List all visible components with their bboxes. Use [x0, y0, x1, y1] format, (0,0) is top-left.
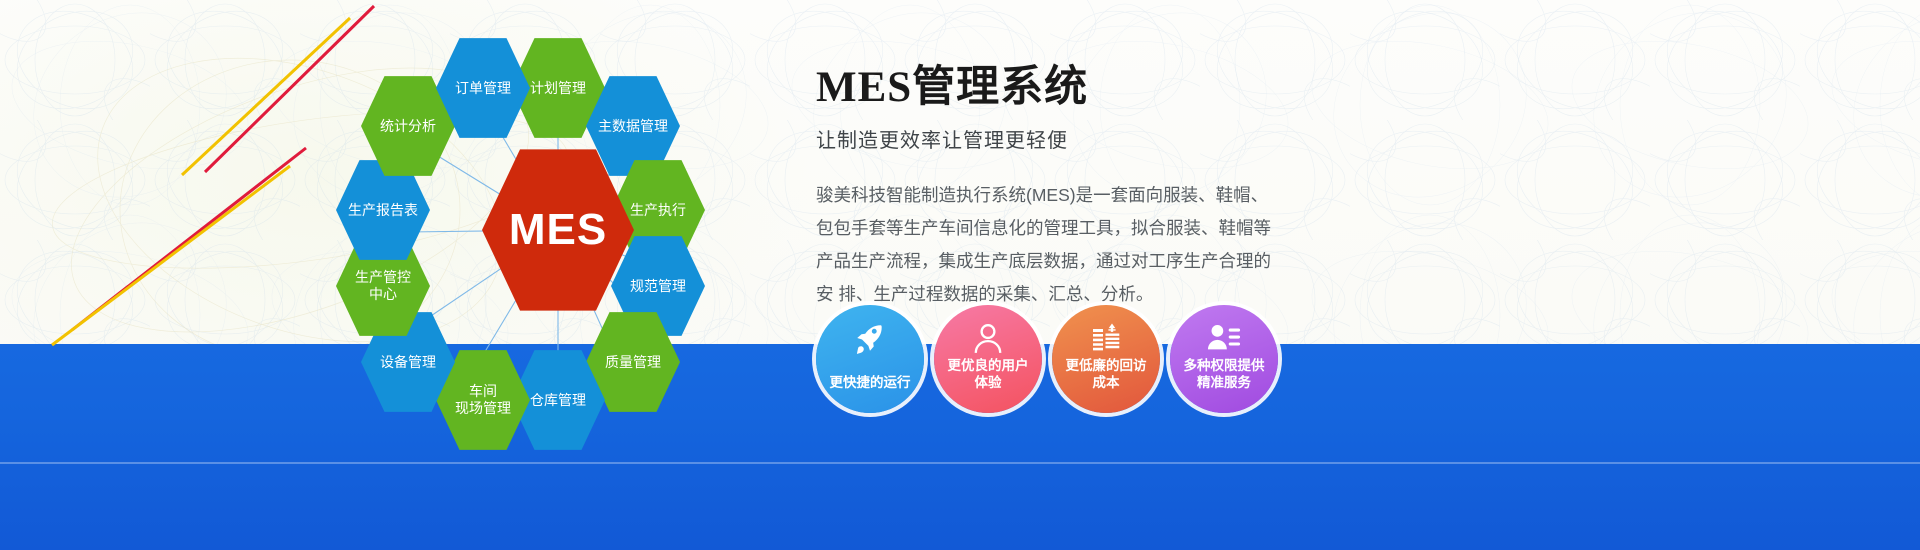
- mes-banner: 计划管理主数据管理生产执行规范管理质量管理仓库管理车间现场管理设备管理生产管控中…: [0, 0, 1920, 550]
- hex-node-label: 仓库管理: [526, 392, 590, 409]
- hex-node-label: 生产执行: [626, 202, 690, 219]
- user-list-icon: [1207, 322, 1241, 359]
- feature-badge-label: 更优良的用户体验: [948, 357, 1029, 413]
- mes-hexagon-diagram: 计划管理主数据管理生产执行规范管理质量管理仓库管理车间现场管理设备管理生产管控中…: [330, 10, 800, 440]
- feature-badge-list: 更快捷的运行更优良的用户体验更低廉的回访成本多种权限提供精准服务: [816, 305, 1278, 413]
- hex-node-label: 计划管理: [526, 80, 590, 97]
- hex-node-label: 设备管理: [376, 354, 440, 371]
- rocket-icon: [853, 322, 887, 361]
- hex-node-label: 统计分析: [376, 118, 440, 135]
- hex-core-label: MES: [505, 204, 611, 256]
- page-title: MES管理系统: [816, 52, 1516, 114]
- hex-node-label: 主数据管理: [594, 118, 672, 135]
- feature-badge-4[interactable]: 多种权限提供精准服务: [1170, 305, 1278, 413]
- banner-text-block: MES管理系统 让制造更效率让管理更轻便 骏美科技智能制造执行系统(MES)是一…: [816, 52, 1516, 311]
- hex-node-label: 订单管理: [451, 80, 515, 97]
- feature-badge-1[interactable]: 更快捷的运行: [816, 305, 924, 413]
- hex-node-label: 质量管理: [601, 354, 665, 371]
- coin-stack-icon: [1090, 322, 1122, 359]
- feature-badge-2[interactable]: 更优良的用户体验: [934, 305, 1042, 413]
- hex-node-label: 生产报告表: [344, 202, 422, 219]
- feature-badge-3[interactable]: 更低廉的回访成本: [1052, 305, 1160, 413]
- user-icon: [971, 322, 1005, 361]
- hex-node-label: 规范管理: [626, 278, 690, 295]
- hex-node-label: 车间现场管理: [451, 383, 515, 416]
- feature-badge-label: 更低廉的回访成本: [1066, 357, 1147, 413]
- hex-node-label: 生产管控中心: [351, 269, 415, 302]
- page-subtitle: 让制造更效率让管理更轻便: [816, 124, 1516, 153]
- banner-description: 骏美科技智能制造执行系统(MES)是一套面向服装、鞋帽、包包手套等生产车间信息化…: [816, 179, 1278, 311]
- feature-badge-label: 更快捷的运行: [830, 374, 911, 413]
- feature-badge-label: 多种权限提供精准服务: [1184, 357, 1265, 413]
